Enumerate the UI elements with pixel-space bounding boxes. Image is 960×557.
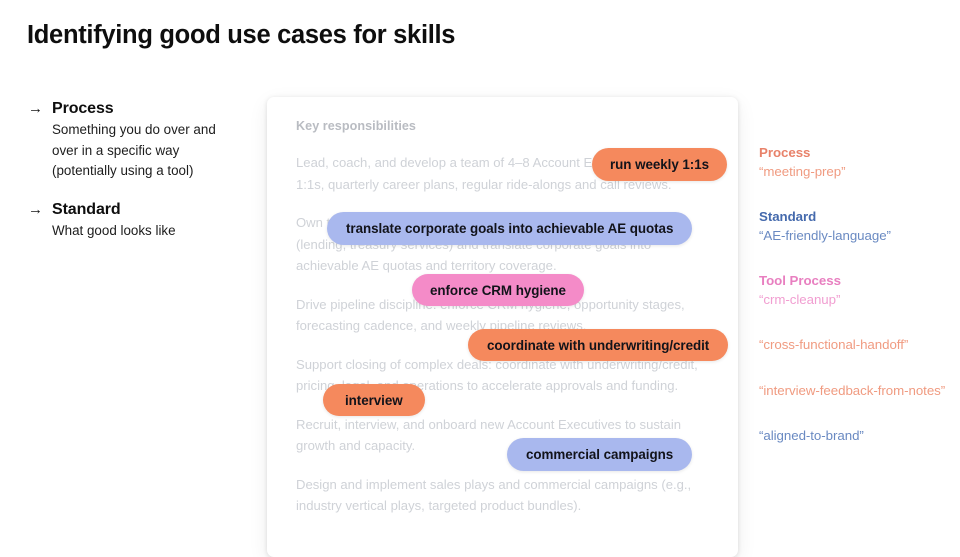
annotation-name: “interview-feedback-from-notes” bbox=[759, 382, 955, 401]
annotation-type: Process bbox=[759, 144, 955, 163]
legend-description: What good looks like bbox=[52, 221, 243, 242]
annotation-name: “cross-functional-handoff” bbox=[759, 336, 955, 355]
document-heading: Key responsibilities bbox=[296, 119, 705, 133]
annotation-item: Standard “AE-friendly-language” bbox=[759, 208, 955, 245]
highlight-pill[interactable]: run weekly 1:1s bbox=[592, 148, 727, 181]
annotation-item: Process “meeting-prep” bbox=[759, 144, 955, 181]
highlight-pill[interactable]: interview bbox=[323, 384, 425, 416]
legend-item-process: → Process Something you do over and over… bbox=[28, 98, 243, 182]
annotation-list: Process “meeting-prep” Standard “AE-frie… bbox=[759, 144, 955, 473]
arrow-right-icon: → bbox=[28, 199, 52, 221]
document-paragraph: Design and implement sales plays and com… bbox=[296, 474, 705, 517]
annotation-name: “AE-friendly-language” bbox=[759, 227, 955, 246]
legend-description: Something you do over and over in a spec… bbox=[52, 120, 243, 182]
annotation-type: Standard bbox=[759, 208, 955, 227]
highlight-pill[interactable]: translate corporate goals into achievabl… bbox=[327, 212, 692, 245]
annotation-item: “aligned-to-brand” bbox=[759, 427, 955, 446]
annotation-type: Tool Process bbox=[759, 272, 955, 291]
annotation-item: Tool Process “crm-cleanup” bbox=[759, 272, 955, 309]
annotation-item: “cross-functional-handoff” bbox=[759, 336, 955, 355]
annotation-name: “meeting-prep” bbox=[759, 163, 955, 182]
highlight-pill[interactable]: commercial campaigns bbox=[507, 438, 692, 471]
legend-list: → Process Something you do over and over… bbox=[28, 98, 243, 258]
legend-item-standard: → Standard What good looks like bbox=[28, 199, 243, 242]
legend-term: Standard bbox=[52, 199, 121, 221]
annotation-name: “aligned-to-brand” bbox=[759, 427, 955, 446]
arrow-right-icon: → bbox=[28, 98, 52, 120]
page-title: Identifying good use cases for skills bbox=[27, 21, 455, 50]
highlight-pill[interactable]: enforce CRM hygiene bbox=[412, 274, 584, 306]
highlight-pill[interactable]: coordinate with underwriting/credit bbox=[468, 329, 728, 361]
annotation-item: “interview-feedback-from-notes” bbox=[759, 382, 955, 401]
annotation-name: “crm-cleanup” bbox=[759, 291, 955, 310]
legend-term: Process bbox=[52, 98, 114, 120]
